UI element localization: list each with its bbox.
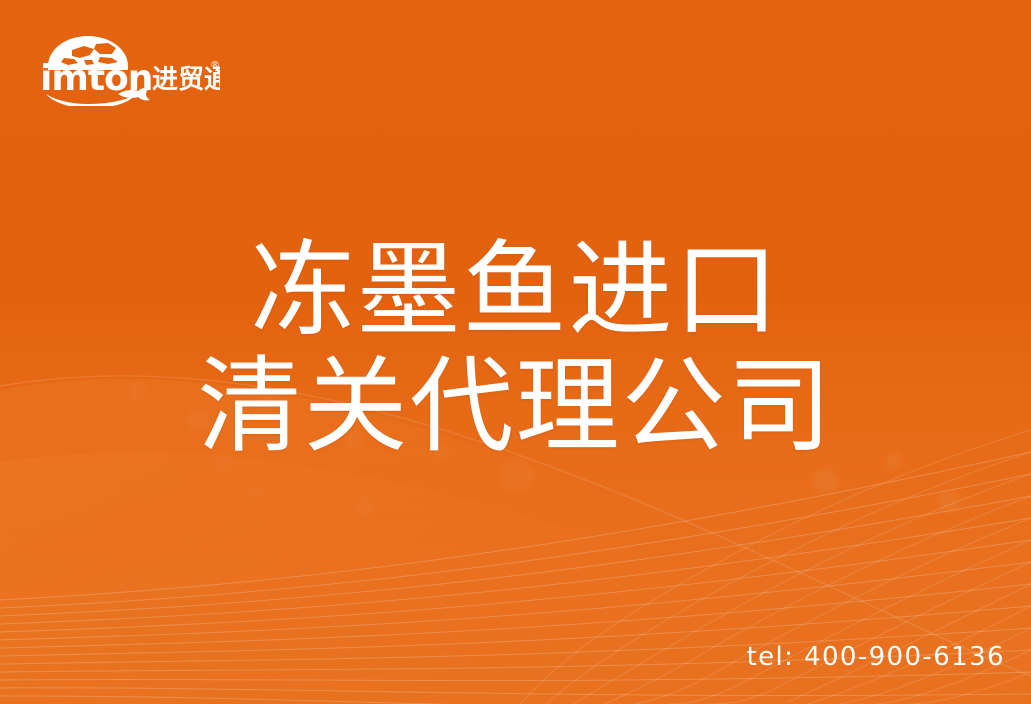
brand-logo[interactable]: imton 进贸通 ® xyxy=(34,32,220,106)
poster-canvas: imton 进贸通 ® 冻墨鱼进口 清关代理公司 tel: 400-900-61… xyxy=(0,0,1031,704)
page-title: 冻墨鱼进口 清关代理公司 xyxy=(0,232,1031,464)
headline-line-2: 清关代理公司 xyxy=(0,348,1031,464)
contact-phone[interactable]: tel: 400-900-6136 xyxy=(747,642,1005,672)
headline-line-1: 冻墨鱼进口 xyxy=(0,232,1031,348)
svg-text:®: ® xyxy=(210,60,220,71)
